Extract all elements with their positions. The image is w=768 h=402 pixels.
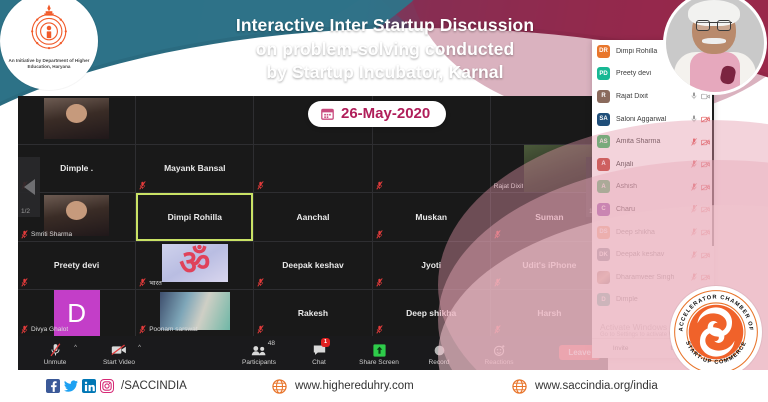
start-video-label: Start Video (103, 359, 135, 366)
video-off-icon[interactable] (701, 200, 710, 218)
participant-row[interactable]: ASAmita Sharma (592, 130, 714, 153)
video-off-icon[interactable] (701, 178, 710, 196)
participant-row[interactable]: AAshish (592, 176, 714, 199)
participant-name: Rajat Dixit (616, 93, 685, 100)
video-tile-name: Rakesh (295, 308, 331, 318)
participant-row[interactable]: DSDeep shikha (592, 221, 714, 244)
video-tile-name: Preety devi (51, 260, 102, 270)
mic-off-icon (257, 278, 264, 287)
participant-row[interactable]: DKDeepak keshav (592, 243, 714, 266)
linkedin-icon[interactable] (82, 379, 96, 393)
mic-off-icon (257, 325, 264, 334)
record-circle-icon (433, 343, 446, 358)
video-tile[interactable]: Deepak keshav (254, 242, 371, 290)
invite-button[interactable]: Invite (613, 345, 629, 352)
video-tile-corner-label: Divya Ghalot (31, 326, 68, 333)
video-tile[interactable]: Mayank Bansal (136, 145, 253, 193)
video-tile[interactable] (373, 145, 490, 193)
mic-off-icon (376, 230, 383, 239)
video-tile-status: Rajat Dixit (494, 183, 524, 190)
unmute-button[interactable]: Unmute ^ (32, 336, 78, 372)
participant-name: Saloni Aggarwal (616, 116, 685, 123)
share-screen-label: Share Screen (359, 359, 399, 366)
chat-label: Chat (312, 359, 326, 366)
participant-row[interactable]: Dharamveer Singh (592, 266, 714, 289)
globe-icon (272, 379, 287, 394)
video-tile-name: Dimple . (57, 163, 96, 173)
video-tile-name: Deep shikha (403, 308, 459, 318)
mic-off-icon[interactable] (691, 133, 697, 151)
participant-avatar: SA (597, 113, 610, 126)
mic-off-icon (494, 278, 501, 287)
video-tile-corner-label: Smriti Sharma (31, 231, 72, 238)
participant-avatar: A (597, 180, 610, 193)
participant-name: Charu (616, 206, 685, 213)
event-date-text: 26-May-2020 (341, 105, 430, 122)
globe-icon (512, 379, 527, 394)
participant-status-icons (691, 110, 710, 128)
sacc-swirl-logo-icon: ACCELERATOR CHAMBER OF START-UP COMMERCE (672, 288, 760, 376)
video-tile[interactable]: Aanchal (254, 193, 371, 241)
video-tile-name: Suman (532, 212, 566, 222)
mic-on-icon[interactable] (691, 110, 697, 128)
social-links: /SACCINDIA (46, 379, 187, 393)
om-symbol-icon: ॐ (179, 246, 210, 280)
video-tile-name: Mayank Bansal (161, 163, 228, 173)
start-video-button[interactable]: Start Video ^ (96, 336, 142, 372)
event-date-badge: 26-May-2020 (308, 101, 446, 127)
mic-off-icon (21, 278, 28, 287)
participants-icon (251, 343, 267, 358)
video-camera-off-icon (111, 343, 127, 358)
video-tile-status (494, 278, 501, 287)
video-off-icon[interactable] (701, 133, 710, 151)
instagram-icon[interactable] (100, 379, 114, 393)
participant-name: Anjali (616, 161, 685, 168)
mic-off-icon (21, 230, 28, 239)
website-link-1[interactable]: www.highereduhry.com (272, 379, 414, 394)
record-button[interactable]: Record (416, 336, 462, 372)
video-tile-status (139, 181, 146, 190)
video-tile-status (376, 325, 383, 334)
video-tile-status (376, 181, 383, 190)
mic-off-icon (139, 181, 146, 190)
video-off-icon[interactable] (701, 268, 710, 286)
video-tile[interactable]: Jyoti (373, 242, 490, 290)
mic-off-icon[interactable] (691, 223, 697, 241)
video-tile[interactable]: Harsh (491, 290, 608, 336)
twitter-icon[interactable] (64, 379, 78, 393)
participant-name: Deepak keshav (616, 251, 685, 258)
mic-off-icon (139, 325, 146, 334)
mic-off-icon (376, 278, 383, 287)
poster-root: Interactive Inter Startup Discussion on … (0, 0, 768, 402)
video-tile-status (21, 278, 28, 287)
video-tile-corner-label: Poonam sarswat (149, 326, 197, 333)
guest-photo-badge (666, 0, 764, 92)
website-link-1-text: www.highereduhry.com (295, 380, 414, 392)
video-tile[interactable]: Rakesh (254, 290, 371, 336)
participant-name: Amita Sharma (616, 138, 685, 145)
participants-label: Participants (242, 359, 276, 366)
chief-minister-photo (666, 0, 764, 92)
facebook-icon[interactable] (46, 379, 60, 393)
participant-status-icons (691, 200, 710, 218)
mic-off-icon[interactable] (691, 246, 697, 264)
video-tile[interactable]: Poonam sarswat (136, 290, 253, 336)
participant-status-icons (691, 268, 710, 286)
participant-status-icons (691, 155, 710, 173)
page-title: Interactive Inter Startup Discussion on … (170, 14, 600, 85)
participant-row[interactable]: SASaloni Aggarwal (592, 108, 714, 131)
video-tile-name: Muskan (412, 212, 450, 222)
video-off-icon[interactable] (701, 223, 710, 241)
participants-count: 48 (268, 340, 275, 347)
participant-status-icons (691, 223, 710, 241)
video-tile-status: भारत (139, 278, 162, 287)
mic-off-icon (376, 325, 383, 334)
left-page-indicator: 1/2 (21, 208, 30, 215)
video-tile[interactable]: Udit's iPhone (491, 242, 608, 290)
participant-webcam-image (44, 98, 110, 139)
participant-name: Ashish (616, 183, 685, 190)
website-link-2-text: www.saccindia.org/india (535, 380, 658, 392)
participant-avatar: C (597, 203, 610, 216)
emblem-caption: An Initiative by Department of Higher Ed… (7, 58, 91, 70)
video-off-icon[interactable] (701, 110, 710, 128)
participant-avatar: DK (597, 248, 610, 261)
reactions-button[interactable]: Reactions (476, 336, 522, 372)
unmute-chevron-up-icon[interactable]: ^ (74, 345, 77, 351)
video-tile[interactable] (254, 145, 371, 193)
sacc-logo: ACCELERATOR CHAMBER OF START-UP COMMERCE (670, 286, 762, 378)
mic-off-icon[interactable] (691, 268, 697, 286)
mic-off-icon (376, 181, 383, 190)
unmute-label: Unmute (44, 359, 67, 366)
participant-status-icons (691, 133, 710, 151)
mic-off-icon (494, 230, 501, 239)
video-tile-status (376, 230, 383, 239)
video-tile[interactable]: ॐभारत (136, 242, 253, 290)
social-handle: /SACCINDIA (121, 380, 187, 392)
video-tile[interactable] (491, 96, 608, 144)
mic-off-icon[interactable] (691, 178, 697, 196)
participant-status-icons (691, 246, 710, 264)
video-tile-status: Divya Ghalot (21, 325, 68, 334)
video-tile[interactable]: Muskan (373, 193, 490, 241)
participant-name: Dharamveer Singh (616, 274, 685, 281)
haryana-government-emblem-icon (21, 0, 77, 56)
mic-off-icon[interactable] (691, 155, 697, 173)
video-tile-status (257, 278, 264, 287)
participants-button[interactable]: 48 Participants (236, 336, 282, 372)
participant-name: Deep shikha (616, 229, 685, 236)
video-tile-name: Udit's iPhone (519, 260, 579, 270)
zoom-toolbar: Unmute ^ Start Video ^ (18, 336, 608, 372)
video-tile[interactable]: Deep shikha (373, 290, 490, 336)
video-tile[interactable]: Dimpi Rohilla (136, 193, 253, 241)
video-tile-status (257, 325, 264, 334)
record-label: Record (429, 359, 450, 366)
video-tile[interactable]: Preety devi (18, 242, 135, 290)
video-tile-name: Aanchal (293, 212, 332, 222)
video-tile-status (376, 278, 383, 287)
video-tile-status (494, 230, 501, 239)
video-tile[interactable] (136, 96, 253, 144)
video-off-icon[interactable] (701, 155, 710, 173)
page-footer: /SACCINDIA www.highereduhry.com www.sacc… (0, 370, 768, 402)
video-tile-status: Smriti Sharma (21, 230, 72, 239)
participant-status-icons (691, 178, 710, 196)
mic-off-icon (494, 325, 501, 334)
video-off-icon[interactable] (701, 246, 710, 264)
prev-page-button[interactable]: 1/2 (18, 157, 40, 217)
participant-row[interactable]: CCharu (592, 198, 714, 221)
participant-avatar: D (597, 293, 610, 306)
participant-avatar: R (597, 90, 610, 103)
reactions-label: Reactions (485, 359, 514, 366)
participant-avatar (597, 271, 610, 284)
participant-row[interactable]: AAnjali (592, 153, 714, 176)
chevron-left-icon (24, 179, 35, 195)
video-tile-name: Deepak keshav (279, 260, 346, 270)
website-link-2[interactable]: www.saccindia.org/india (512, 379, 658, 394)
video-tile-corner-label: Rajat Dixit (494, 183, 524, 190)
video-tile-name: Dimpi Rohilla (165, 212, 225, 222)
participants-scrollbar[interactable] (712, 76, 715, 246)
title-line-1: Interactive Inter Startup Discussion (170, 14, 600, 38)
participant-avatar: DS (597, 226, 610, 239)
mic-off-icon (139, 278, 146, 287)
video-tile-grid: Dimple .Mayank BansalRajat DixitSmriti S… (18, 96, 608, 336)
share-screen-icon (373, 343, 386, 358)
video-tile-status: Poonam sarswat (139, 325, 197, 334)
mic-off-icon (21, 325, 28, 334)
video-tile-status (257, 181, 264, 190)
video-tile[interactable]: DDivya Ghalot (18, 290, 135, 336)
video-chevron-up-icon[interactable]: ^ (138, 345, 141, 351)
video-tile[interactable] (18, 96, 135, 144)
chat-button[interactable]: 1 Chat (296, 336, 342, 372)
share-screen-button[interactable]: Share Screen (356, 336, 402, 372)
microphone-muted-icon (49, 343, 62, 358)
video-tile-corner-label: भारत (149, 278, 162, 287)
title-line-2: on problem-solving conducted (170, 38, 600, 62)
mic-off-icon[interactable] (691, 200, 697, 218)
video-tile-name: Jyoti (418, 260, 444, 270)
video-tile-status (494, 325, 501, 334)
participant-avatar: A (597, 158, 610, 171)
calendar-icon (321, 107, 334, 120)
video-tile-name: Harsh (534, 308, 564, 318)
participant-avatar: AS (597, 135, 610, 148)
title-line-3: by Startup Incubator, Karnal (170, 61, 600, 85)
participant-avatar-image: ॐ (162, 244, 228, 282)
mic-off-icon (257, 181, 264, 190)
reactions-smiley-icon (493, 343, 506, 358)
zoom-meeting-window: Dimple .Mayank BansalRajat DixitSmriti S… (18, 96, 608, 372)
chat-unread-badge: 1 (321, 338, 330, 347)
